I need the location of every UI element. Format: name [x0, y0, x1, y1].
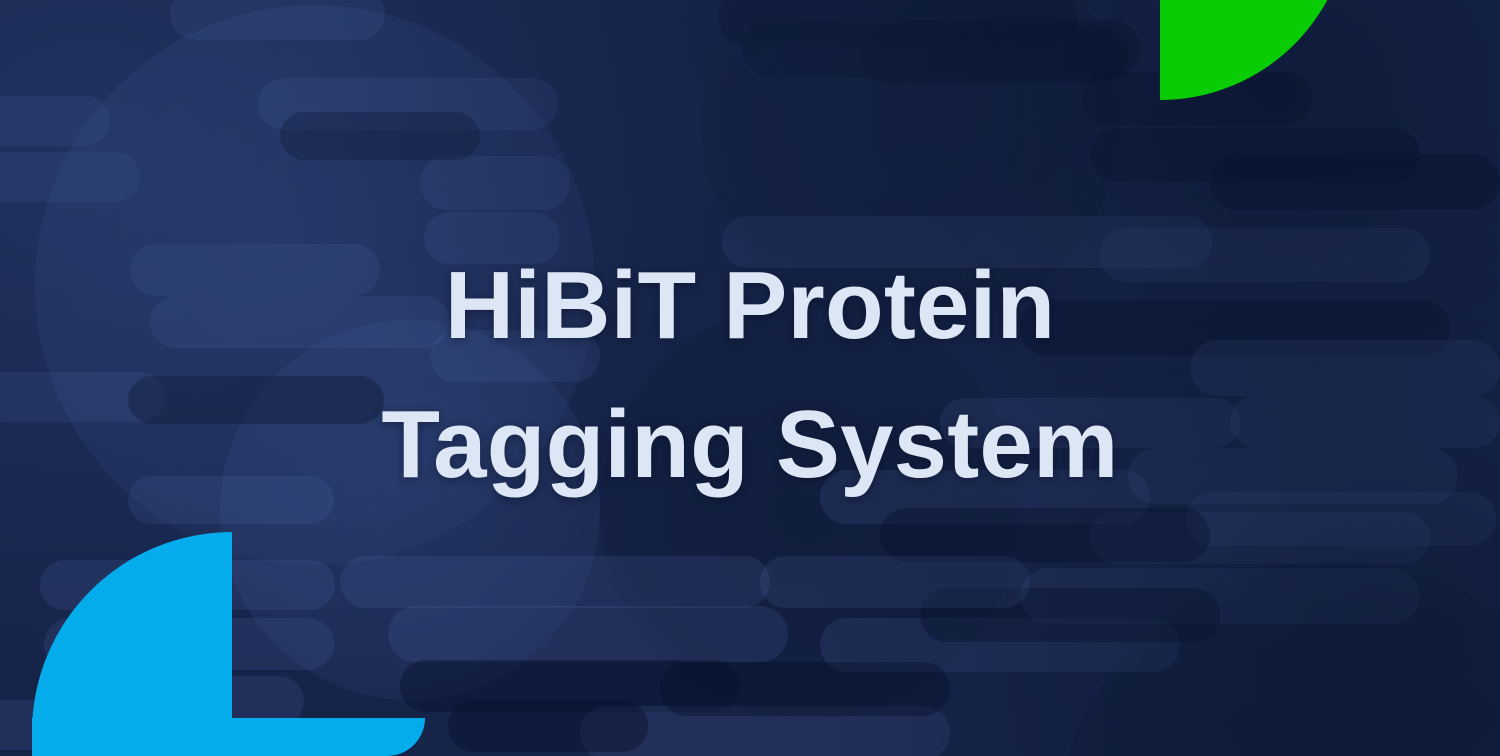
page-title: HiBiT Protein Tagging System — [0, 236, 1500, 514]
title-line-1: HiBiT Protein — [0, 236, 1500, 375]
cyan-bar-accent — [32, 718, 425, 756]
hero-banner: HiBiT Protein Tagging System — [0, 0, 1500, 756]
title-line-2: Tagging System — [0, 375, 1500, 514]
